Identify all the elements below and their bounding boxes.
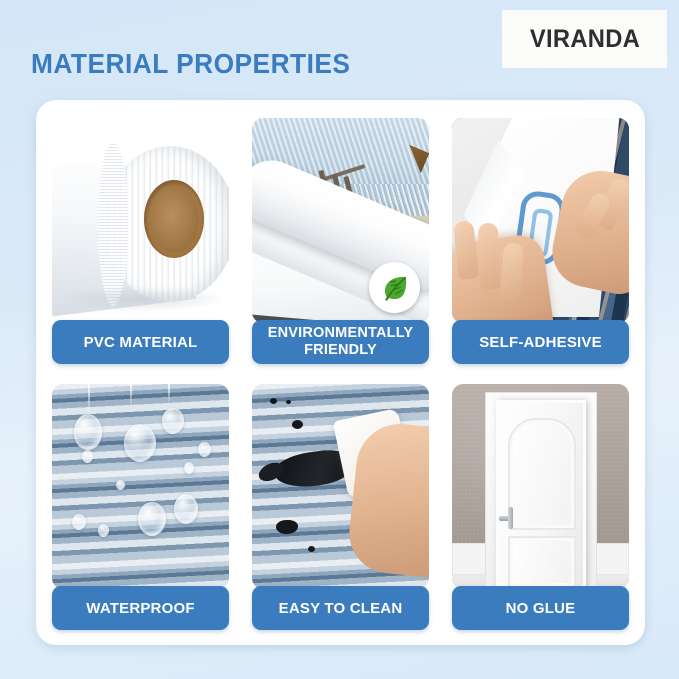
brand-name: VIRANDA <box>529 25 639 54</box>
feature-label-easy-to-clean: EASY TO CLEAN <box>252 586 429 630</box>
label-line-1: ENVIRONMENTALLY <box>268 325 414 341</box>
feature-card-easy-to-clean[interactable]: EASY TO CLEAN <box>252 384 429 630</box>
feature-grid: PVC MATERIAL ENVIRON <box>52 118 629 630</box>
peeling-marble-wallpaper-photo <box>452 118 629 323</box>
page-title: MATERIAL PROPERTIES <box>31 48 350 80</box>
brand-logo-box: VIRANDA <box>502 10 667 68</box>
feature-label-waterproof: WATERPROOF <box>52 586 229 630</box>
door-handle-icon <box>499 516 513 521</box>
feature-card-no-glue[interactable]: NO GLUE <box>452 384 629 630</box>
feature-card-environmentally-friendly[interactable]: ENVIRONMENTALLY FRIENDLY <box>252 118 429 364</box>
pvc-roll-photo <box>52 118 229 323</box>
label-line-2: FRIENDLY <box>304 342 377 358</box>
wallpaper-roll-beach-photo <box>252 118 429 323</box>
feature-label-environmentally-friendly: ENVIRONMENTALLY FRIENDLY <box>252 320 429 364</box>
feature-card-waterproof[interactable]: WATERPROOF <box>52 384 229 630</box>
feature-label-self-adhesive: SELF-ADHESIVE <box>452 320 629 364</box>
white-door-photo <box>452 384 629 589</box>
feature-card-pvc-material[interactable]: PVC MATERIAL <box>52 118 229 364</box>
feature-label-pvc-material: PVC MATERIAL <box>52 320 229 364</box>
feature-card-self-adhesive[interactable]: SELF-ADHESIVE <box>452 118 629 364</box>
header: MATERIAL PROPERTIES VIRANDA <box>0 0 679 100</box>
water-droplets-photo <box>52 384 229 589</box>
feature-label-no-glue: NO GLUE <box>452 586 629 630</box>
wiping-ink-stain-photo <box>252 384 429 589</box>
leaf-icon <box>369 262 420 313</box>
